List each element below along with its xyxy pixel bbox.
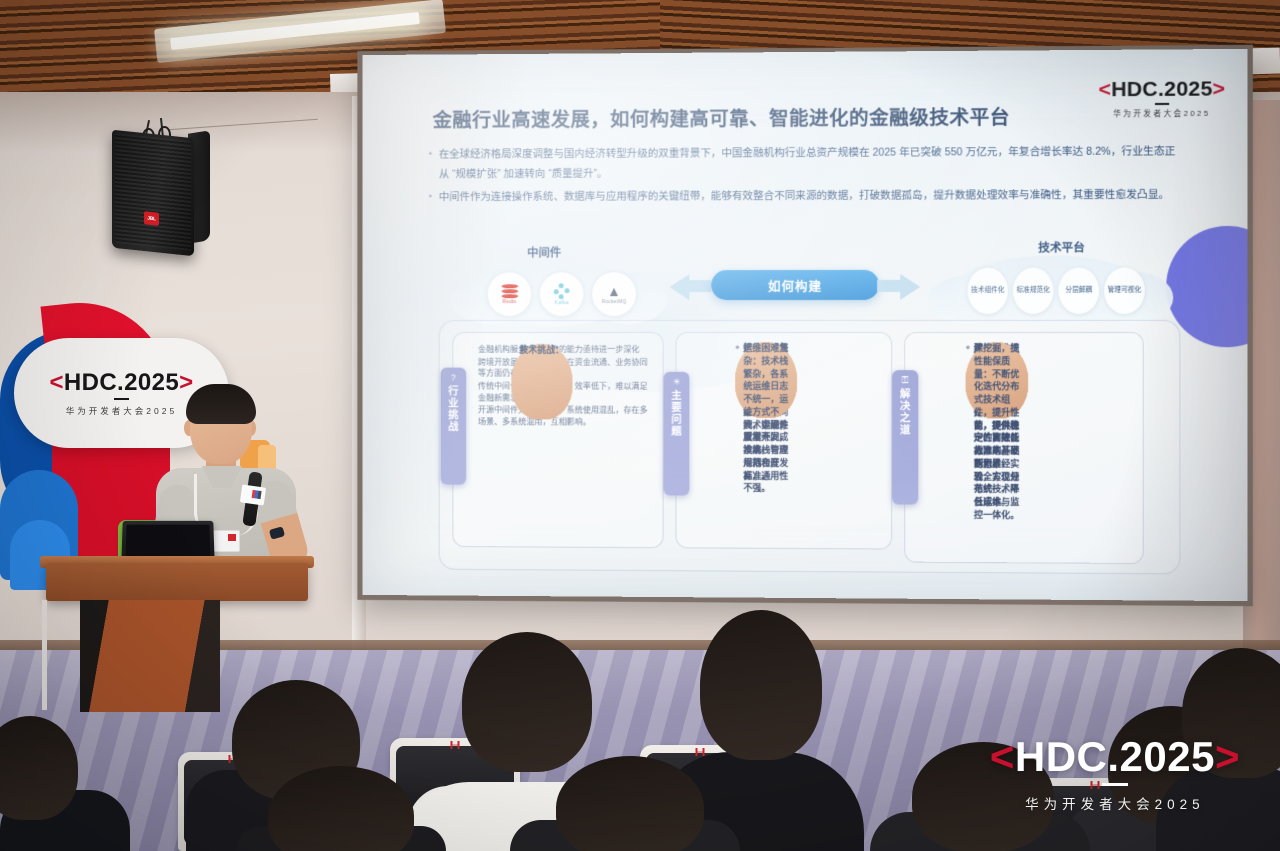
- column-list-item: ●运维困难复杂：技术栈繁杂，各系统运维日志不统一，运维方式不同，运维难度增大，成…: [735, 342, 797, 418]
- column-item-text: 深挖掘，提性能保质量：不断优化迭代分布式技术组件，提升性能，提升稳定性，降低故障…: [974, 342, 1028, 418]
- podium-column: [80, 600, 220, 712]
- watermark-left-angle-icon: <: [990, 733, 1015, 780]
- middleware-chip-rocketmq: ▲ RocketMQ: [592, 272, 636, 316]
- column-item-text: 技术挑战：: [519, 344, 572, 420]
- watermark-right-angle-icon: >: [1215, 733, 1240, 780]
- presentation-slide: <HDC.2025> 华为开发者大会2025 金融行业高速发展，如何构建高可靠、…: [362, 49, 1247, 601]
- slide-title: 金融行业高速发展，如何构建高可靠、智能进化的金融级技术平台: [433, 100, 1091, 132]
- slide-logo-subtitle: 华为开发者大会2025: [1098, 108, 1225, 120]
- hdc-watermark: <HDC.2025> 华为开发者大会2025: [990, 733, 1240, 813]
- column-list-item: ●技术挑战：: [511, 344, 572, 420]
- projection-screen: <HDC.2025> 华为开发者大会2025 金融行业高速发展，如何构建高可靠、…: [362, 49, 1247, 601]
- watermark-logo-text: <HDC.2025>: [990, 733, 1240, 781]
- bullet-filled-icon: ●: [966, 342, 970, 418]
- middleware-chip-kafka: Kafka: [540, 272, 583, 316]
- column-tab-3: ⚿ 解决之道: [892, 370, 918, 504]
- standee-underline: [114, 398, 129, 400]
- column-item-lead: 深挖掘，提性能保质量：: [974, 343, 1019, 379]
- middleware-name: Kafka: [555, 300, 569, 306]
- bullet-small-icon: ·: [472, 356, 474, 379]
- arrow-right-tail: [877, 280, 901, 292]
- column-tab-1: ? 行业挑战: [441, 368, 467, 485]
- watermark-title: HDC.2025: [1015, 733, 1215, 780]
- logo-underline: [1155, 103, 1169, 105]
- column-item-lead: 运维困难复杂：: [743, 343, 788, 366]
- platform-chip-label: 技术组件化: [971, 286, 1004, 295]
- logo-title: HDC.2025: [1111, 77, 1212, 101]
- platform-chip-label: 分层解耦: [1065, 286, 1092, 295]
- diagram-center-button: 如何构建: [711, 270, 879, 300]
- column-list-item: ●深挖掘，提性能保质量：不断优化迭代分布式技术组件，提升性能，提升稳定性，降低故…: [966, 342, 1029, 418]
- logo-left-angle-icon: <: [1098, 78, 1111, 101]
- diagram-left-label: 中间件: [527, 244, 561, 260]
- logo-right-angle-icon: >: [1213, 77, 1226, 100]
- column-body-1: ●业务挑战：·金融机构服务实体经济的能力亟待进一步深化·跨境开放虽然在推进，但在…: [472, 344, 648, 429]
- audience-head: [462, 632, 592, 772]
- platform-chip-label: 标准规范化: [1017, 286, 1050, 295]
- question-mark-icon: ?: [451, 374, 456, 383]
- watermark-subtitle: 华为开发者大会2025: [990, 793, 1240, 813]
- diagram-right-label: 技术平台: [1038, 239, 1085, 255]
- podium: [46, 563, 308, 601]
- column-tab-label: 主要问题: [669, 390, 684, 437]
- platform-chip: 技术组件化: [968, 268, 1008, 314]
- standee-left-angle-icon: <: [49, 369, 63, 396]
- platform-chip: 管理可视化: [1104, 267, 1145, 313]
- presenter-hair: [186, 384, 256, 424]
- ceiling-speaker: JBL: [108, 110, 228, 260]
- lightbulb-icon: ☀: [672, 378, 680, 387]
- platform-chip-group: 技术组件化 标准规范化 分层解耦 管理可视化: [968, 267, 1145, 313]
- bullet-small-icon: ·: [472, 344, 474, 356]
- conference-photo-scene: JBL <HDC.2025> 华为开发者大会2025 金融行业高速发展，如何构建…: [0, 0, 1280, 851]
- bullet-text: 在全球经济格局深度调整与国内经济转型升级的双重背景下，中国金融机构行业总资产规模…: [439, 142, 1184, 184]
- slide-bullet-list: • 在全球经济格局深度调整与国内经济转型升级的双重背景下，中国金融机构行业总资产…: [429, 142, 1184, 212]
- column-tab-label: 行业挑战: [446, 385, 461, 432]
- middleware-name: RocketMQ: [602, 299, 627, 305]
- bullet-item: • 在全球经济格局深度调整与国内经济转型升级的双重背景下，中国金融机构行业总资产…: [429, 142, 1184, 184]
- microphone-flag: [240, 484, 266, 505]
- arrow-left-tail: [687, 280, 711, 292]
- speaker-grille: [115, 133, 191, 251]
- slide-logo-text: <HDC.2025>: [1098, 77, 1225, 102]
- bullet-small-icon: ·: [472, 380, 474, 403]
- bullet-small-icon: ·: [472, 405, 474, 428]
- watermark-underline: [1102, 783, 1128, 786]
- bullet-filled-icon: ●: [511, 344, 515, 419]
- middleware-name: Redis: [503, 299, 517, 305]
- bullet-text: 中间件作为连接操作系统、数据库与应用程序的关键纽带，能够有效整合不同来源的数据，…: [439, 186, 1184, 208]
- platform-chip: 标准规范化: [1013, 268, 1053, 314]
- middleware-chip-redis: Redis: [488, 272, 531, 316]
- audience-head: [556, 756, 704, 851]
- column-tab-2: ☀ 主要问题: [664, 372, 690, 496]
- platform-chip: 分层解耦: [1059, 268, 1100, 314]
- audience-head: [700, 610, 822, 760]
- bullet-item: • 中间件作为连接操作系统、数据库与应用程序的关键纽带，能够有效整合不同来源的数…: [429, 186, 1184, 208]
- bullet-dot-icon: •: [429, 188, 432, 207]
- bullet-dot-icon: •: [429, 146, 432, 185]
- arrow-left-icon: [670, 274, 690, 300]
- stand-post: [42, 600, 47, 710]
- slide-hdc-logo: <HDC.2025> 华为开发者大会2025: [1098, 77, 1225, 119]
- column-tab-label: 解决之道: [898, 388, 913, 436]
- key-icon: ⚿: [902, 376, 909, 385]
- jbl-logo: JBL: [144, 211, 159, 226]
- redis-icon: [501, 284, 518, 298]
- column-item-text: 运维困难复杂：技术栈繁杂，各系统运维日志不统一，运维方式不同，运维难度增大，成本…: [743, 342, 797, 418]
- kafka-icon: [554, 283, 570, 299]
- middleware-icon-group: Redis Kafka ▲ RocketMQ: [488, 272, 636, 316]
- rocketmq-icon: ▲: [607, 284, 621, 298]
- arrow-right-icon: [900, 274, 920, 300]
- platform-chip-label: 管理可视化: [1108, 286, 1141, 295]
- bullet-filled-icon: ●: [735, 342, 739, 418]
